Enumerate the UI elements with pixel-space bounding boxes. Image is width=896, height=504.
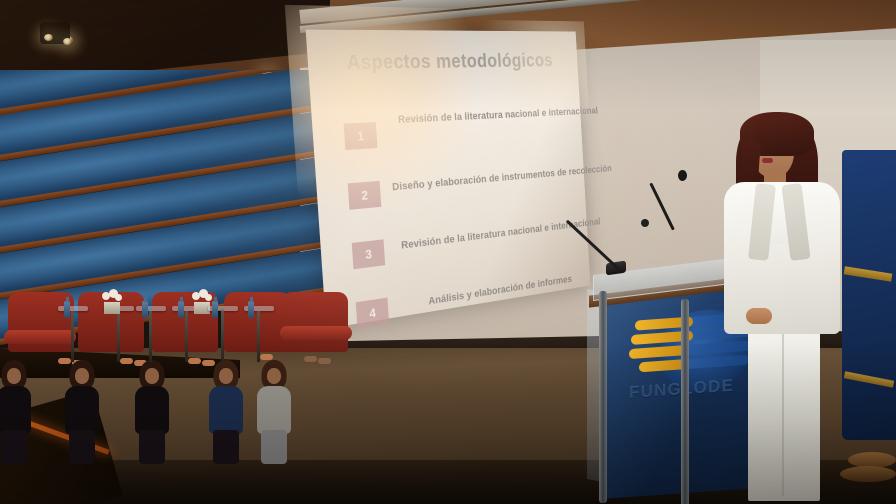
slide-item-number: 2: [348, 181, 382, 210]
side-table: [104, 306, 134, 362]
chair-armrest: [280, 326, 352, 340]
flag-stand-base: [840, 466, 896, 482]
slide-item-text: Revisión de la literatura nacional e int…: [398, 106, 599, 126]
water-bottle: [212, 301, 218, 318]
podium-leg: [681, 299, 689, 504]
screen-surface: Aspectos metodológicos 1 Revisión de la …: [306, 30, 591, 329]
slide-item-list: 1 Revisión de la literatura nacional e i…: [343, 105, 582, 352]
chair: [282, 292, 348, 352]
ceremonial-flag: [838, 150, 896, 504]
conference-hall-scene: Aspectos metodológicos 1 Revisión de la …: [0, 0, 896, 504]
microphone-joint: [641, 219, 649, 227]
water-bottle: [64, 301, 70, 318]
panelist-group: [0, 225, 330, 370]
speaker-lips: [762, 158, 773, 163]
water-bottle: [248, 301, 254, 318]
side-table: [172, 306, 202, 362]
slide-item-number: 3: [352, 239, 385, 269]
speaker-trousers-seam: [782, 326, 784, 496]
ceiling-light-icon: [44, 34, 53, 41]
side-table: [58, 306, 88, 362]
slide-item-number: 4: [356, 298, 389, 329]
microphone-capsule-icon: [678, 170, 687, 181]
slide-item-number: 1: [344, 122, 378, 150]
podium-leg: [599, 291, 607, 503]
speaker-trousers: [748, 326, 820, 501]
ceiling-light-icon: [63, 38, 72, 45]
speaker-presenter: [718, 112, 848, 504]
water-bottle: [178, 301, 184, 318]
side-table: [136, 306, 166, 362]
water-bottle: [142, 301, 148, 318]
slide-item-text: Diseño y elaboración de instrumentos de …: [392, 164, 612, 194]
slide-item-text: Revisión de la literatura nacional e int…: [401, 217, 601, 252]
slide-item-text: Análisis y elaboración de informes: [428, 274, 572, 307]
flower-arrangement: [100, 292, 124, 314]
slide-title: Aspectos metodológicos: [346, 50, 553, 75]
speaker-hand: [746, 308, 772, 324]
flag-cloth: [842, 150, 896, 440]
projection-screen: Aspectos metodológicos 1 Revisión de la …: [306, 30, 591, 329]
